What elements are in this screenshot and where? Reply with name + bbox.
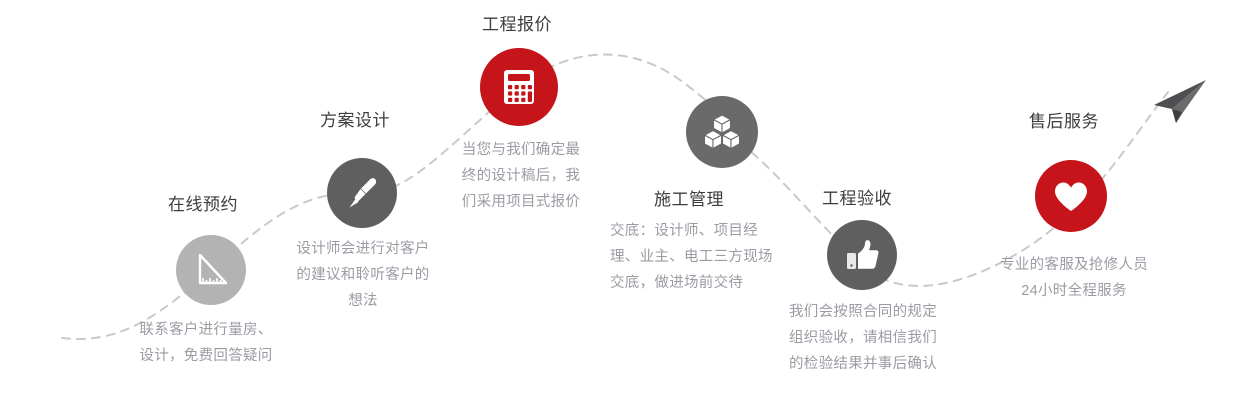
step-4-description: 交底：设计师、项目经理、业主、电工三方现场交底，做进场前交待 bbox=[610, 192, 786, 296]
step-2-description: 设计师会进行对客户的建议和聆听客户的想法 bbox=[292, 236, 434, 314]
paper-plane-icon bbox=[1148, 78, 1210, 129]
stacked-boxes-icon bbox=[686, 96, 758, 168]
step-3-title: 工程报价 bbox=[482, 16, 552, 33]
calculator-icon bbox=[480, 48, 558, 126]
step-1-title: 在线预约 bbox=[168, 196, 238, 213]
step-6-title: 售后服务 bbox=[1029, 113, 1099, 130]
set-square-ruler-icon bbox=[176, 235, 246, 305]
step-1-description: 联系客户进行量房、设计，免费回答疑问 bbox=[136, 317, 276, 369]
fountain-pen-icon bbox=[327, 158, 397, 228]
step-6-description: 专业的客服及抢修人员24小时全程服务 bbox=[1000, 252, 1148, 304]
step-5-title: 工程验收 bbox=[822, 190, 892, 207]
step-5-description: 我们会按照合同的规定组织验收，请相信我们的检验结果并事后确认 bbox=[788, 299, 938, 377]
step-3-description: 当您与我们确定最终的设计稿后，我们采用项目式报价 bbox=[455, 137, 587, 215]
process-flow-infographic: 在线预约 联系客户进行量房、设计，免费回答疑问 方案设计 bbox=[0, 0, 1245, 402]
heart-icon bbox=[1035, 160, 1107, 232]
step-2-title: 方案设计 bbox=[320, 112, 390, 129]
thumbs-up-icon bbox=[827, 220, 897, 290]
